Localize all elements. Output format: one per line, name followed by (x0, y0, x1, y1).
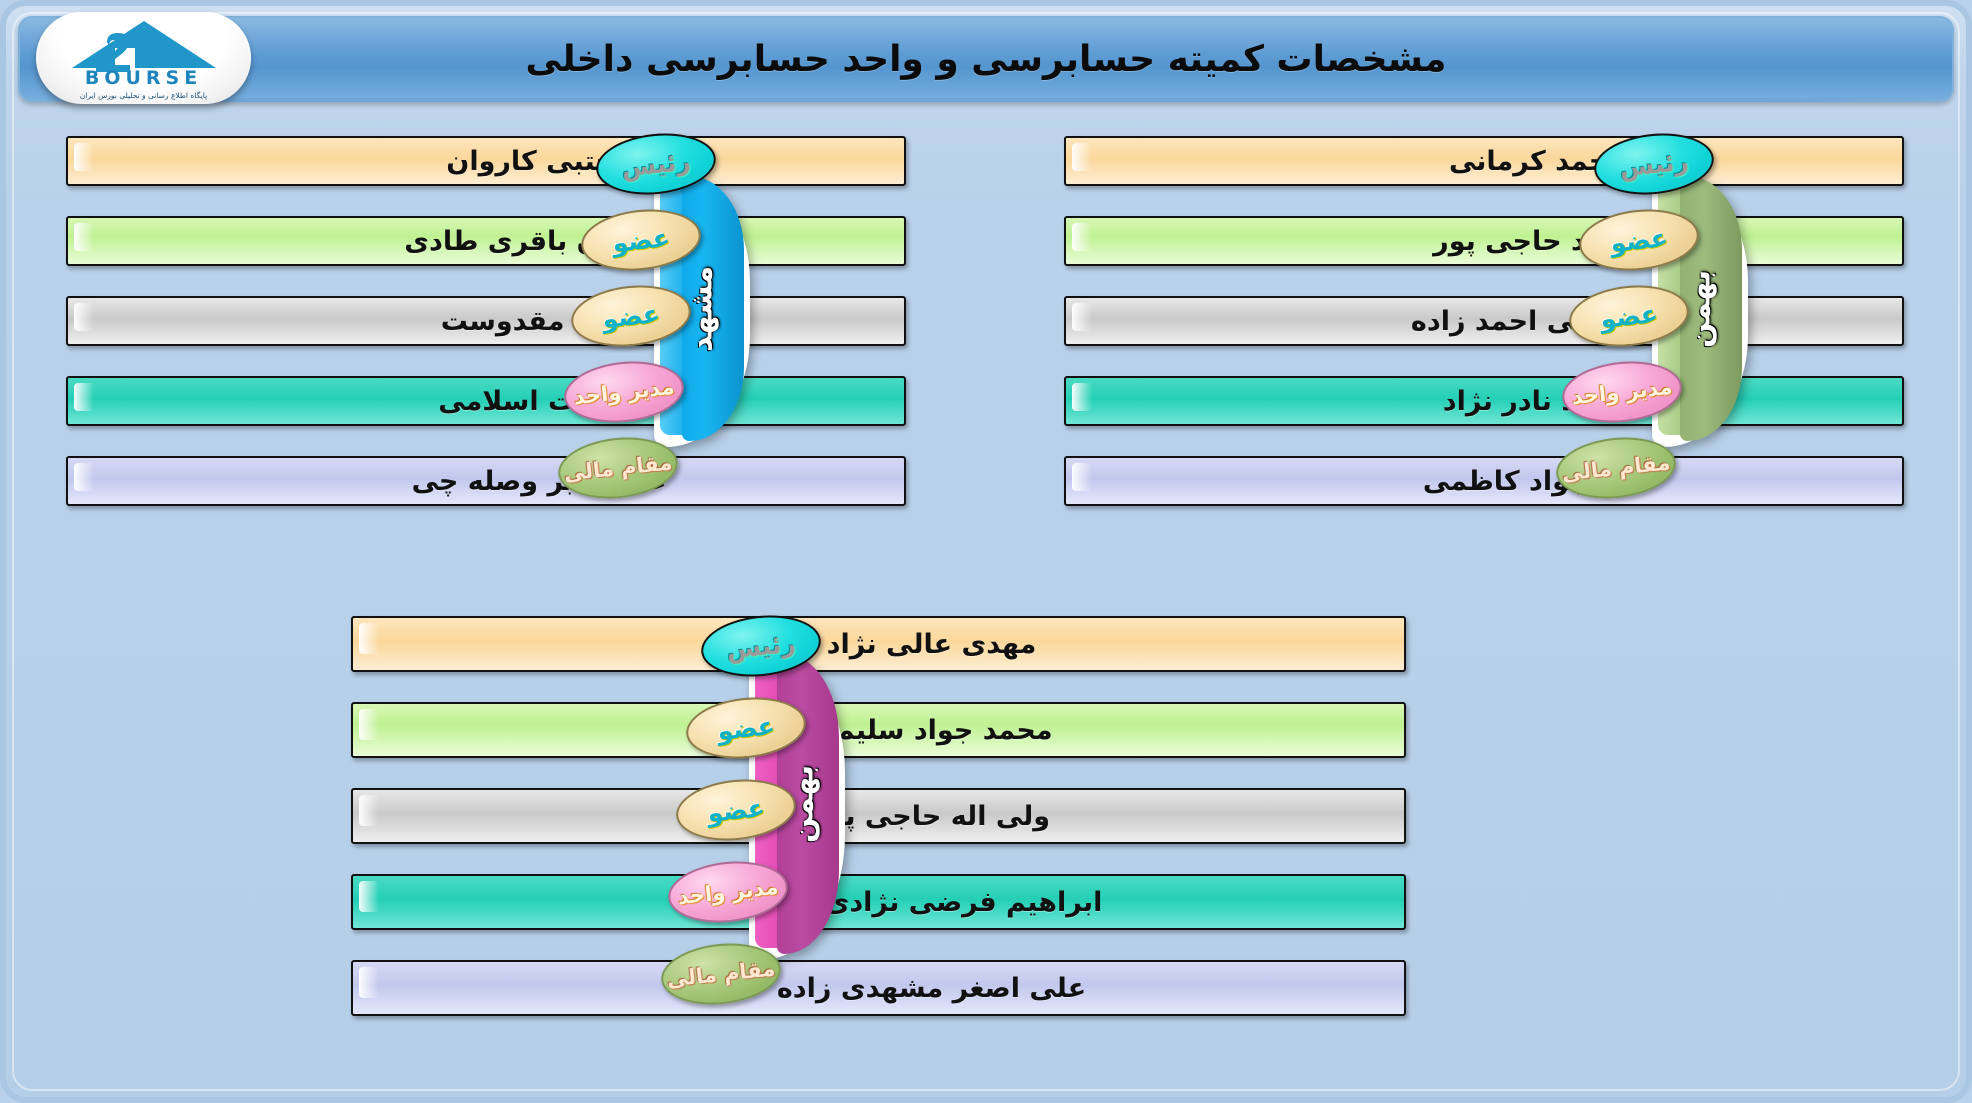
logo-wordmark: BOURSE (85, 69, 202, 88)
table-row[interactable]: همایون باقری طادی (66, 216, 906, 266)
member-name: سید جواد کاظمی (1066, 466, 1902, 497)
table-row[interactable]: علی اکبر وصله چی (66, 456, 906, 506)
member-name: علی اصغر مشهدی زاده (353, 973, 1404, 1004)
member-name: محمد کرمانی (1066, 146, 1902, 177)
table-row[interactable]: مصطفی احمد زاده (1064, 296, 1904, 346)
member-name: جلال مقدوست (68, 306, 904, 337)
table-row[interactable]: جلال مقدوست (66, 296, 906, 346)
role-label: مقام مالی (563, 450, 674, 485)
header-underline (18, 98, 1954, 102)
member-name: محمد حاجی پور (1066, 226, 1902, 257)
table-row[interactable]: مهدی عالی نژاد (351, 616, 1406, 672)
committee-group-left: مشهد مجتبی کاروان همایون باقری طادی جلال… (66, 136, 906, 506)
role-label: رئیس (1618, 146, 1690, 182)
table-row[interactable]: علی اصغر مشهدی زاده (351, 960, 1406, 1016)
table-row[interactable]: محمد حاجی پور (1064, 216, 1904, 266)
role-label: رئیس (725, 628, 797, 664)
role-label: رئیس (620, 146, 692, 182)
table-row[interactable]: سید جواد کاظمی (1064, 456, 1904, 506)
page-title: مشخصات کمیته حسابرسی و واحد حسابرسی داخل… (20, 18, 1952, 100)
table-row[interactable]: ولی اله حاجی پور (351, 788, 1406, 844)
committee-group-right: بهمن محمد کرمانی محمد حاجی پور مصطفی احم… (1064, 136, 1904, 506)
member-name: عصمت اسلامی (68, 386, 904, 417)
role-label: مقام مالی (1561, 450, 1672, 485)
role-label: مدیر واحد (1571, 375, 1674, 409)
table-row[interactable]: محمد جواد سلیمی (351, 702, 1406, 758)
role-label: عضو (1599, 299, 1659, 334)
table-row[interactable]: محمد نادر نژاد (1064, 376, 1904, 426)
page-canvas: مشخصات کمیته حسابرسی و واحد حسابرسی داخل… (0, 0, 1972, 1103)
table-row[interactable]: عصمت اسلامی (66, 376, 906, 426)
member-name: علی اکبر وصله چی (68, 466, 904, 497)
member-name: مهدی عالی نژاد (353, 629, 1404, 660)
role-label: عضو (706, 793, 766, 828)
role-label: عضو (601, 299, 661, 334)
member-name: همایون باقری طادی (68, 226, 904, 257)
site-logo[interactable]: BOURSE پایگاه اطلاع رسانی و تحلیلی بورس … (36, 12, 251, 104)
table-row[interactable]: مجتبی کاروان (66, 136, 906, 186)
logo-tagline: پایگاه اطلاع رسانی و تحلیلی بورس ایران (80, 91, 207, 100)
role-label: عضو (611, 223, 671, 258)
role-label: عضو (1609, 223, 1669, 258)
role-label: مدیر واحد (677, 875, 780, 909)
header-bar: مشخصات کمیته حسابرسی و واحد حسابرسی داخل… (18, 16, 1954, 102)
role-label: مقام مالی (666, 956, 777, 991)
committee-group-bottom: بهمن مهدی عالی نژاد محمد جواد سلیمی ولی … (351, 616, 1406, 1016)
member-name: مصطفی احمد زاده (1066, 306, 1902, 337)
member-name: ابراهیم فرضی نژادی زاده (353, 887, 1404, 918)
table-row[interactable]: محمد کرمانی (1064, 136, 1904, 186)
member-name: مجتبی کاروان (68, 146, 904, 177)
member-name: محمد نادر نژاد (1066, 386, 1902, 417)
member-name: ولی اله حاجی پور (353, 801, 1404, 832)
member-name: محمد جواد سلیمی (353, 715, 1404, 746)
role-label: عضو (716, 711, 776, 746)
logo-mountain-icon (69, 18, 219, 72)
table-row[interactable]: ابراهیم فرضی نژادی زاده (351, 874, 1406, 930)
role-label: مدیر واحد (573, 375, 676, 409)
